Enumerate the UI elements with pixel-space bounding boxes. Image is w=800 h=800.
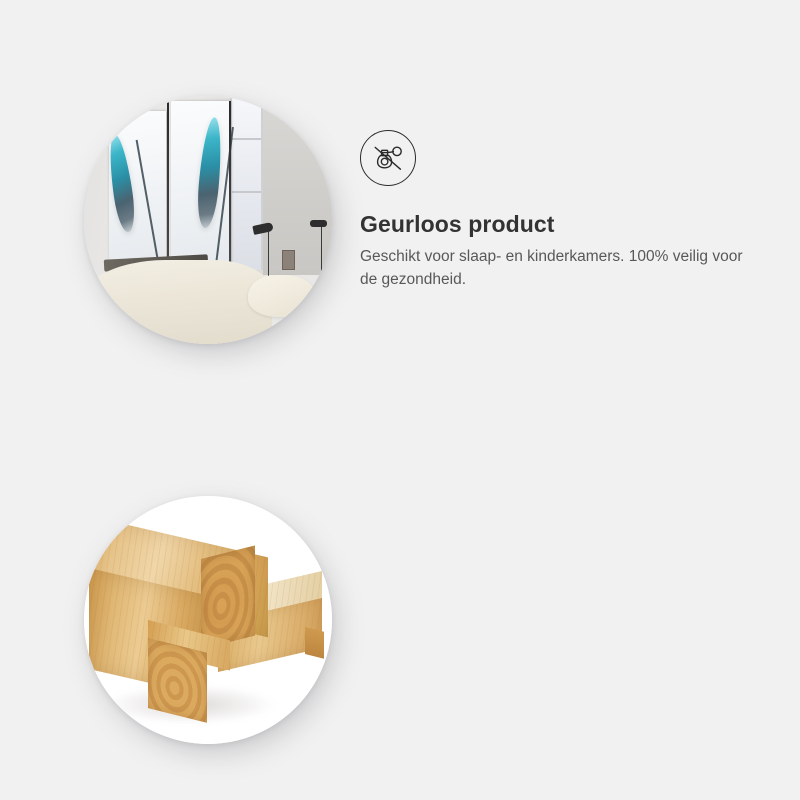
bed-pillow (248, 275, 317, 317)
cube-end-grain (148, 638, 207, 722)
feature-image-wooden-blocks (84, 496, 332, 744)
plank-end-grain (305, 627, 324, 658)
bedroom-scene-illustration (84, 96, 332, 344)
wall-lamp-shade (310, 220, 327, 227)
floor-lamp-stem (268, 227, 270, 282)
feature-title: Geurloos product (360, 210, 760, 239)
feature-image-bedroom-feather-wall-art (84, 96, 332, 344)
art-panel-left (109, 111, 166, 275)
art-panel-center (171, 101, 231, 275)
wooden-blocks-illustration (84, 496, 332, 744)
feature-text-geurloos-product: Geurloos product Geschikt voor slaap- en… (360, 130, 760, 292)
picture-frame-small (282, 250, 294, 270)
feature-block-solide-constructie: Solide constructie Vervaardigd uit de ho… (0, 400, 800, 800)
product-features-page: Geurloos product Geschikt voor slaap- en… (0, 0, 800, 800)
panel-divider-1 (167, 101, 169, 275)
window-element (230, 96, 262, 270)
feature-description: Geschikt voor slaap- en kinderkamers. 10… (360, 246, 745, 292)
feature-block-geurloos-product: Geurloos product Geschikt voor slaap- en… (0, 0, 800, 400)
wall-lamp-stem (321, 225, 323, 289)
feather-graphic-center (195, 116, 225, 229)
feather-graphic-left (106, 133, 138, 234)
wood-cube-front (148, 620, 230, 709)
bed-duvet (84, 260, 272, 344)
no-perfume-icon (360, 130, 416, 186)
circular-photo-frame (84, 96, 332, 344)
circular-photo-frame (84, 496, 332, 744)
panel-divider-2 (229, 101, 231, 275)
